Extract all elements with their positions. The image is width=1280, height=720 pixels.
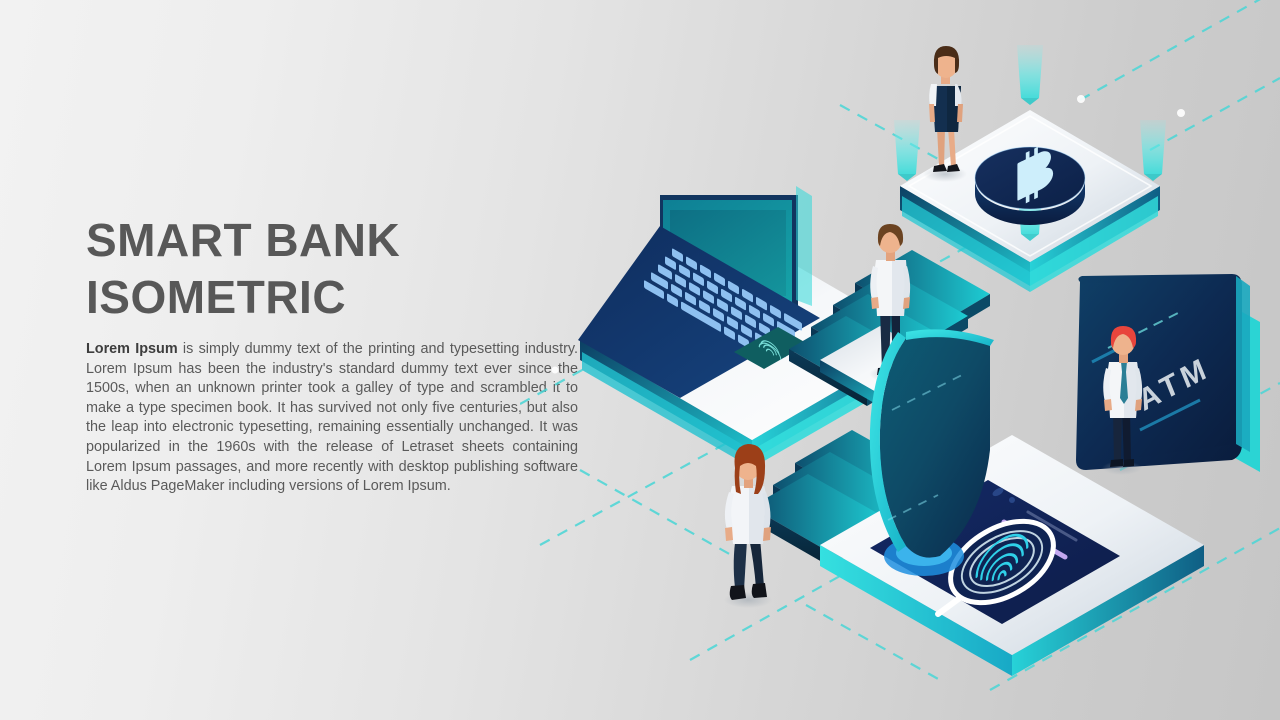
atm-card: ATM	[1076, 274, 1260, 472]
body-paragraph: Lorem Ipsum is simply dummy text of the …	[86, 340, 578, 497]
illustration: ATM	[520, 0, 1280, 720]
page-title-line-1: SMART BANK	[86, 212, 578, 269]
page-title: SMART BANK ISOMETRIC	[86, 212, 578, 326]
page-title-line-2: ISOMETRIC	[86, 269, 578, 326]
body-lead: Lorem Ipsum	[86, 341, 178, 357]
slide-root: SMART BANK ISOMETRIC Lorem Ipsum is simp…	[0, 0, 1280, 720]
text-column: SMART BANK ISOMETRIC Lorem Ipsum is simp…	[86, 212, 578, 497]
woman-walking	[724, 444, 772, 608]
body-rest: is simply dummy text of the printing and…	[86, 341, 578, 494]
